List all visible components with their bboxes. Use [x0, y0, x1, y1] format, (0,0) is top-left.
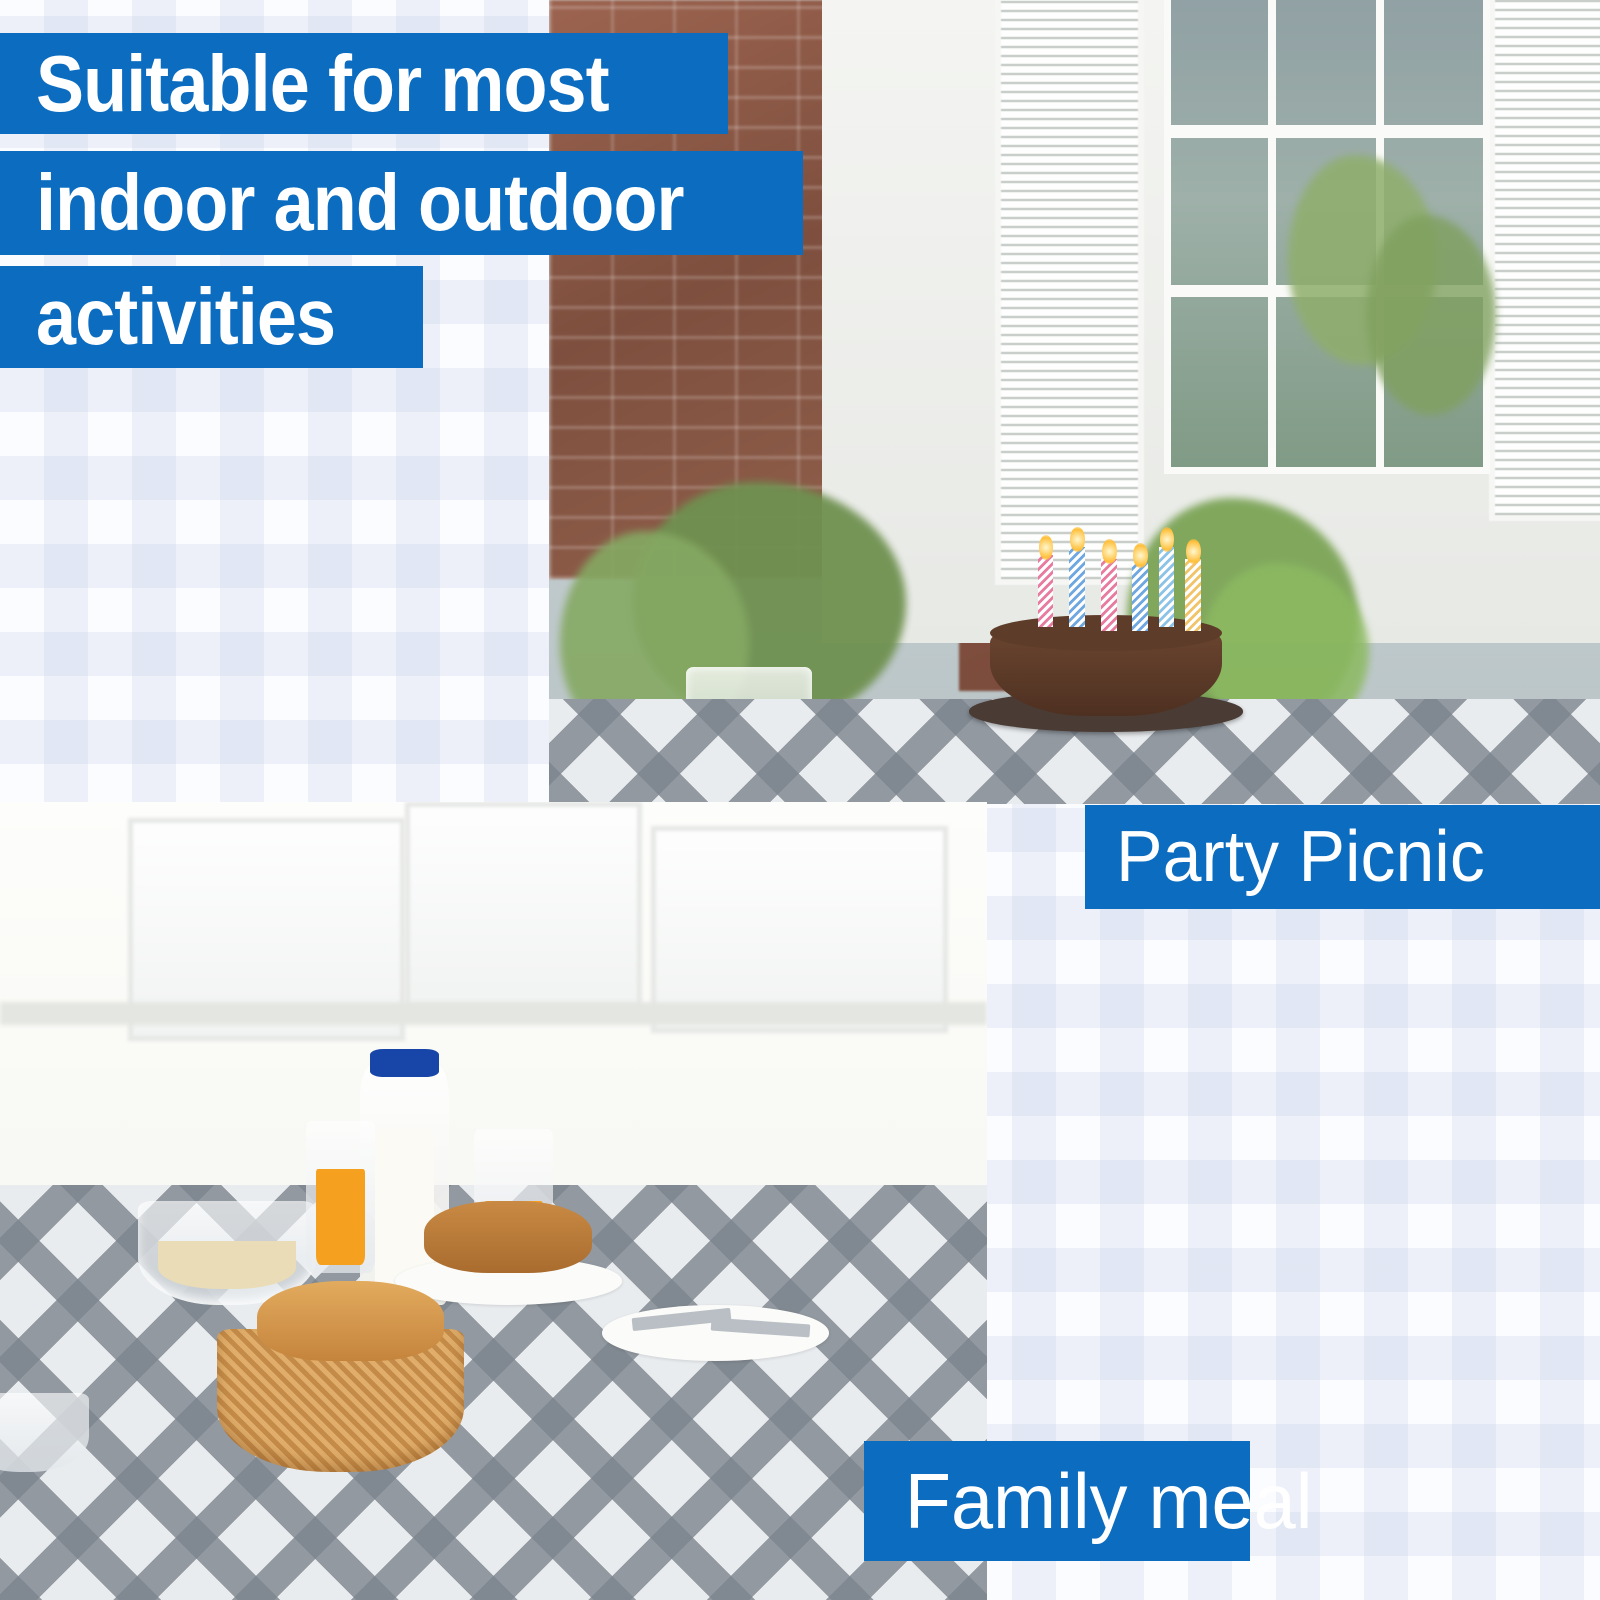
label-family-meal: Family meal	[864, 1462, 1313, 1540]
orange-juice-left	[316, 1169, 365, 1265]
headline-line3: activities	[0, 277, 335, 357]
bottle-cap	[370, 1049, 439, 1077]
headline-bar-line1: Suitable for most	[0, 33, 728, 134]
photo-family-meal	[0, 802, 987, 1600]
candle	[1069, 547, 1085, 627]
kitchen-window-center	[405, 802, 642, 1009]
bread-loaf	[424, 1201, 592, 1273]
headline-bar-line2: indoor and outdoor	[0, 151, 803, 255]
candle-flame	[1102, 539, 1117, 565]
banner-canvas: Suitable for most indoor and outdoor act…	[0, 0, 1600, 1600]
label-party-picnic: Party Picnic	[1085, 821, 1485, 893]
label-bar-party-picnic: Party Picnic	[1085, 805, 1600, 909]
window-shutter-right	[1495, 0, 1600, 515]
candle	[1101, 559, 1117, 631]
candle-flame	[1070, 527, 1085, 553]
window-shutter-left	[1001, 0, 1138, 579]
headline-line1: Suitable for most	[0, 44, 609, 124]
candle	[1132, 563, 1148, 631]
house-window	[1164, 0, 1490, 474]
candle	[1159, 547, 1175, 627]
candle	[1185, 559, 1201, 631]
label-bar-family-meal: Family meal	[864, 1441, 1250, 1561]
cereal	[158, 1241, 296, 1289]
croissant	[257, 1281, 445, 1361]
headline-line2: indoor and outdoor	[0, 163, 684, 243]
candle	[1038, 555, 1054, 627]
headline-bar-line3: activities	[0, 266, 423, 368]
candle-flame	[1186, 539, 1201, 565]
family-meal-scene	[0, 802, 987, 1600]
